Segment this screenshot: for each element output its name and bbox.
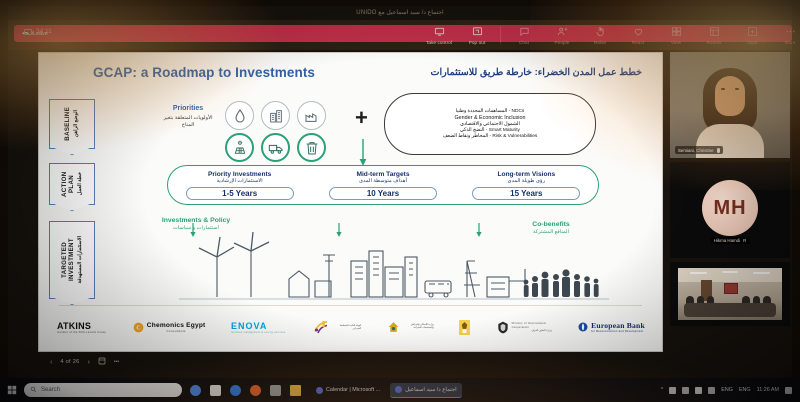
- horizon-0-ar: الاستثمارات الإرشادية: [168, 178, 311, 184]
- toolbar-button-raise[interactable]: Raise: [581, 22, 619, 45]
- language-indicator[interactable]: ENG: [721, 387, 733, 393]
- tray-chevron-icon[interactable]: ^: [661, 387, 664, 393]
- priority-icon-grid: [225, 101, 337, 162]
- network-icon[interactable]: [695, 387, 702, 394]
- mic-logo-sub: وزارة التعاون الدولي: [512, 329, 552, 332]
- ceiling-light-3: [753, 272, 770, 274]
- speaker-name: Semiani, Christine: [678, 148, 714, 153]
- toolbar-divider: [500, 26, 501, 44]
- participant-tile-avatar[interactable]: MH Hikma Hamdi R: [670, 162, 790, 258]
- toolbar-button-more[interactable]: More: [771, 22, 800, 45]
- egypt-eagle-icon: [459, 320, 470, 335]
- ebrd-logo-text: European Bank: [591, 321, 645, 330]
- priorities-label-en: Priorities: [157, 105, 219, 112]
- search-icon: [30, 386, 37, 395]
- band-targeted-investment: TARGETED INVESTMENT الاستثمارات المستهدف…: [49, 221, 95, 299]
- toolbar-button-label: More: [785, 40, 796, 45]
- participant-tile-speaker[interactable]: Semiani, Christine: [670, 52, 790, 158]
- housing-mark-icon: [387, 320, 400, 334]
- mic-muted-icon: [717, 148, 720, 153]
- grid-view-icon[interactable]: [98, 357, 106, 367]
- ministry-housing-sub: وزارة الإسكان والمرافق والمجتمعات العمرا…: [402, 324, 434, 330]
- priority-icon-row-top: [225, 101, 337, 130]
- horizon-2-en: Long-term Visions: [455, 171, 598, 178]
- enova-logo: ENOVA facilities management & energy ser…: [231, 321, 286, 334]
- atkins-logo-sub: member of the SNC-Lavalin Group: [57, 331, 106, 334]
- apps-icon: [746, 25, 759, 38]
- water-drop-icon: [225, 101, 254, 130]
- toolbar-button-label: Apps: [747, 40, 758, 45]
- timer-text: 34:11: [36, 28, 52, 35]
- svg-text:C: C: [136, 325, 140, 331]
- horizon-2-years: 15 Years: [472, 187, 580, 200]
- band-targeted-investment-ar: الاستثمارات المستهدفة: [77, 236, 84, 284]
- toolbar-button-pop-out[interactable]: Pop out: [458, 22, 496, 45]
- meeting-timer: 34:11: [24, 28, 52, 35]
- toolbar-button-label: Rooms: [706, 40, 721, 45]
- react-icon: [632, 25, 645, 38]
- arabic-partner-sub: الهيئة العامة للتخطيط العمراني: [333, 324, 361, 330]
- truck-icon: [261, 133, 290, 162]
- ebrd-mark-icon: [577, 321, 589, 333]
- toolbar-button-label: React: [632, 40, 645, 45]
- avatar-participant-name: Hikma Hamdi: [714, 238, 740, 243]
- chrome-icon[interactable]: [190, 385, 201, 396]
- avatar-badge: R: [743, 238, 746, 243]
- ebrd-logo: European Bank for Reconstruction and Dev…: [577, 321, 645, 333]
- horizon-2-ar: رؤى طويلة المدى: [455, 178, 598, 184]
- partner-logo-strip: ATKINS member of the SNC-Lavalin Group C…: [57, 311, 645, 343]
- city-illustration: [179, 221, 609, 301]
- calendar-icon: [316, 387, 323, 394]
- waste-bin-icon: [297, 133, 326, 162]
- toolbar-button-take-control[interactable]: Take control: [420, 22, 458, 45]
- keyboard-indicator[interactable]: ENG: [739, 387, 751, 393]
- horizon-1-en: Mid-term Targets: [311, 171, 454, 178]
- slide-title-row: GCAP: a Roadmap to Investments خطط عمل ا…: [51, 65, 650, 87]
- security-icon[interactable]: [682, 387, 689, 394]
- view-icon: [670, 25, 683, 38]
- horizon-mid-term-targets: Mid-term Targets أهداف متوسطة المدى 10 Y…: [311, 171, 454, 200]
- calendar-window-label: Calendar | Microsoft ...: [326, 387, 380, 393]
- chat-icon: [518, 25, 531, 38]
- slide-more-options-button[interactable]: •••: [114, 359, 119, 365]
- room-wall-art: [724, 283, 739, 294]
- egypt-emblem-logo: [459, 320, 470, 335]
- camera-icon: [24, 29, 32, 35]
- chemonics-mark-icon: C: [132, 321, 145, 334]
- rooms-icon: [708, 25, 721, 38]
- ndc-line-3: الشمول الاجتماعي والاقتصادي: [460, 122, 520, 127]
- meeting-toolbar: 34:11 Take controlPop outChatPeopleRaise…: [8, 20, 792, 50]
- atkins-logo-text: ATKINS: [57, 321, 106, 331]
- more-icon: [784, 25, 797, 38]
- toolbar-button-label: View: [671, 40, 681, 45]
- system-tray: ^ ENG ENG 11:26 AM: [661, 387, 800, 394]
- meeting-title: اجتماع د/ سيد اسماعيل مع UNIDO: [8, 6, 792, 21]
- toolbar-button-react[interactable]: React: [619, 22, 657, 45]
- gopp-mark-icon: [311, 318, 331, 336]
- windows-start-icon[interactable]: [0, 385, 24, 395]
- slide-title-en: GCAP: a Roadmap to Investments: [93, 65, 315, 80]
- band-action-plan-en: ACTION PLAN: [61, 164, 75, 204]
- chemonics-egypt-logo: C Chemonics Egypt Consultants: [132, 321, 206, 334]
- toolbar-button-chat[interactable]: Chat: [505, 22, 543, 45]
- toolbar-button-label: Take control: [426, 40, 452, 45]
- slide-navigation-bar: ‹ 4 of 26 › •••: [38, 354, 663, 370]
- ndc-line-5: Risk & Vulnerabilities - المخاطر ونقاط ا…: [443, 134, 538, 139]
- enova-logo-sub: facilities management & energy services: [231, 331, 286, 334]
- taskbar-pinned-icons: [190, 385, 301, 396]
- search-placeholder: Search: [41, 387, 60, 393]
- firefox-icon[interactable]: [250, 385, 261, 396]
- file-explorer-icon[interactable]: [210, 385, 221, 396]
- mic-crest-icon: [496, 320, 510, 335]
- toolbar-button-label: Pop out: [469, 40, 486, 45]
- shared-content-stage: GCAP: a Roadmap to Investments خطط عمل ا…: [38, 52, 663, 352]
- ministry-international-cooperation-logo: Ministry of International Cooperation وز…: [496, 320, 552, 335]
- avatar-nameplate: Hikma Hamdi R: [711, 237, 750, 244]
- toolbar-button-label: Raise: [594, 40, 606, 45]
- horizon-1-ar: أهداف متوسطة المدى: [311, 178, 454, 184]
- taskbar-window-teams[interactable]: اجتماع د/ سيد اسماعيل: [390, 383, 462, 398]
- clock[interactable]: 11:26 AM: [757, 387, 779, 393]
- search-input[interactable]: Search: [24, 383, 182, 397]
- pop-out-icon: [471, 25, 484, 38]
- priorities-label: Priorities الأولويات المتعلقة بتغير المن…: [157, 105, 219, 128]
- slide-counter: 4 of 26: [60, 359, 79, 365]
- enova-logo-text: ENOVA: [231, 321, 286, 331]
- priorities-label-ar: الأولويات المتعلقة بتغير المناخ: [157, 115, 219, 128]
- ndc-line-4: Smart Maturity - النضج الذكي: [460, 128, 520, 133]
- ndc-line-2: Gender & Economic Inclusion: [454, 115, 525, 121]
- time-horizons-pill: Priority Investments الاستثمارات الإرشاد…: [167, 165, 599, 205]
- slide-title-ar: خطط عمل المدن الخضراء: خارطة طريق للاستث…: [431, 67, 642, 78]
- atkins-logo: ATKINS member of the SNC-Lavalin Group: [57, 321, 106, 334]
- take-control-icon: [433, 25, 446, 38]
- folder-icon[interactable]: [290, 385, 301, 396]
- previous-slide-button[interactable]: ‹: [50, 359, 52, 366]
- horizon-0-en: Priority Investments: [168, 171, 311, 178]
- next-slide-button[interactable]: ›: [88, 359, 90, 366]
- band-action-plan-ar: خطة العمل: [77, 172, 84, 195]
- participant-tile-room[interactable]: [670, 262, 790, 326]
- ceiling-light-1: [690, 272, 707, 274]
- camera-app-icon[interactable]: [270, 385, 281, 396]
- notification-icon[interactable]: [785, 387, 792, 394]
- avatar: MH: [702, 180, 758, 236]
- priority-icon-row-bottom: [225, 133, 337, 162]
- participant-rail: Semiani, Christine MH Hikma Hamdi R: [670, 52, 790, 370]
- solar-panel-icon: [225, 133, 254, 162]
- photographed-screen: اجتماع د/ سيد اسماعيل مع UNIDO 34:11 Tak…: [0, 0, 800, 402]
- windows-taskbar: Search Calendar | Microsoft ... اجتماع د…: [0, 378, 800, 402]
- arabic-partner-logo: الهيئة العامة للتخطيط العمراني: [311, 318, 361, 336]
- band-action-plan: ACTION PLAN خطة العمل: [49, 163, 95, 205]
- band-baseline-ar: الوضع الراهن: [73, 110, 80, 137]
- toolbar-button-view[interactable]: View: [657, 22, 695, 45]
- band-baseline-en: BASELINE: [64, 107, 71, 141]
- horizon-0-years: 1-5 Years: [186, 187, 294, 200]
- teams-window-label: اجتماع د/ سيد اسماعيل: [405, 387, 457, 393]
- taskbar-window-calendar[interactable]: Calendar | Microsoft ...: [311, 383, 385, 398]
- people-icon: [556, 25, 569, 38]
- powerpoint-slide: GCAP: a Roadmap to Investments خطط عمل ا…: [39, 53, 662, 351]
- ministry-of-housing-logo: وزارة الإسكان والمرافق والمجتمعات العمرا…: [387, 320, 434, 334]
- room-ceiling: [678, 268, 782, 282]
- room-video-feed: [678, 268, 782, 320]
- factory-icon: [297, 101, 326, 130]
- ndc-line-1: NDCs - المساهمات المحددة وطنيا: [456, 109, 525, 114]
- chemonics-logo-sub: Consultants: [147, 329, 206, 333]
- horizon-long-term-visions: Long-term Visions رؤى طويلة المدى 15 Yea…: [455, 171, 598, 200]
- speaker-face: [715, 76, 745, 116]
- room-table: [684, 303, 776, 317]
- toolbar-button-rooms[interactable]: Rooms: [695, 22, 733, 45]
- volume-icon[interactable]: [708, 387, 715, 394]
- ebrd-logo-sub: for Reconstruction and Development: [591, 330, 645, 333]
- raise-hand-icon: [594, 25, 607, 38]
- logo-divider: [59, 305, 642, 306]
- horizon-1-years: 10 Years: [329, 187, 437, 200]
- teams-icon: [395, 386, 402, 393]
- chemonics-logo-text: Chemonics Egypt: [147, 322, 206, 329]
- edge-icon[interactable]: [230, 385, 241, 396]
- plus-sign: +: [355, 107, 368, 129]
- horizon-priority-investments: Priority Investments الاستثمارات الإرشاد…: [168, 171, 311, 200]
- cross-cutting-themes-box: NDCs - المساهمات المحددة وطنيا Gender & …: [384, 93, 596, 155]
- buildings-icon: [261, 101, 290, 130]
- onedrive-icon[interactable]: [669, 387, 676, 394]
- toolbar-button-people[interactable]: People: [543, 22, 581, 45]
- speaker-video-feed: [670, 52, 790, 158]
- toolbar-button-apps[interactable]: Apps: [733, 22, 771, 45]
- band-targeted-investment-en: TARGETED INVESTMENT: [61, 222, 75, 298]
- band-baseline: BASELINE الوضع الراهن: [49, 99, 95, 149]
- speaker-nameplate: Semiani, Christine: [675, 146, 723, 154]
- teams-meeting-window: اجتماع د/ سيد اسماعيل مع UNIDO 34:11 Tak…: [8, 6, 792, 378]
- down-arrow-icon: [357, 139, 369, 167]
- toolbar-button-label: Chat: [519, 40, 529, 45]
- toolbar-button-label: People: [555, 40, 570, 45]
- ceiling-light-2: [722, 271, 739, 273]
